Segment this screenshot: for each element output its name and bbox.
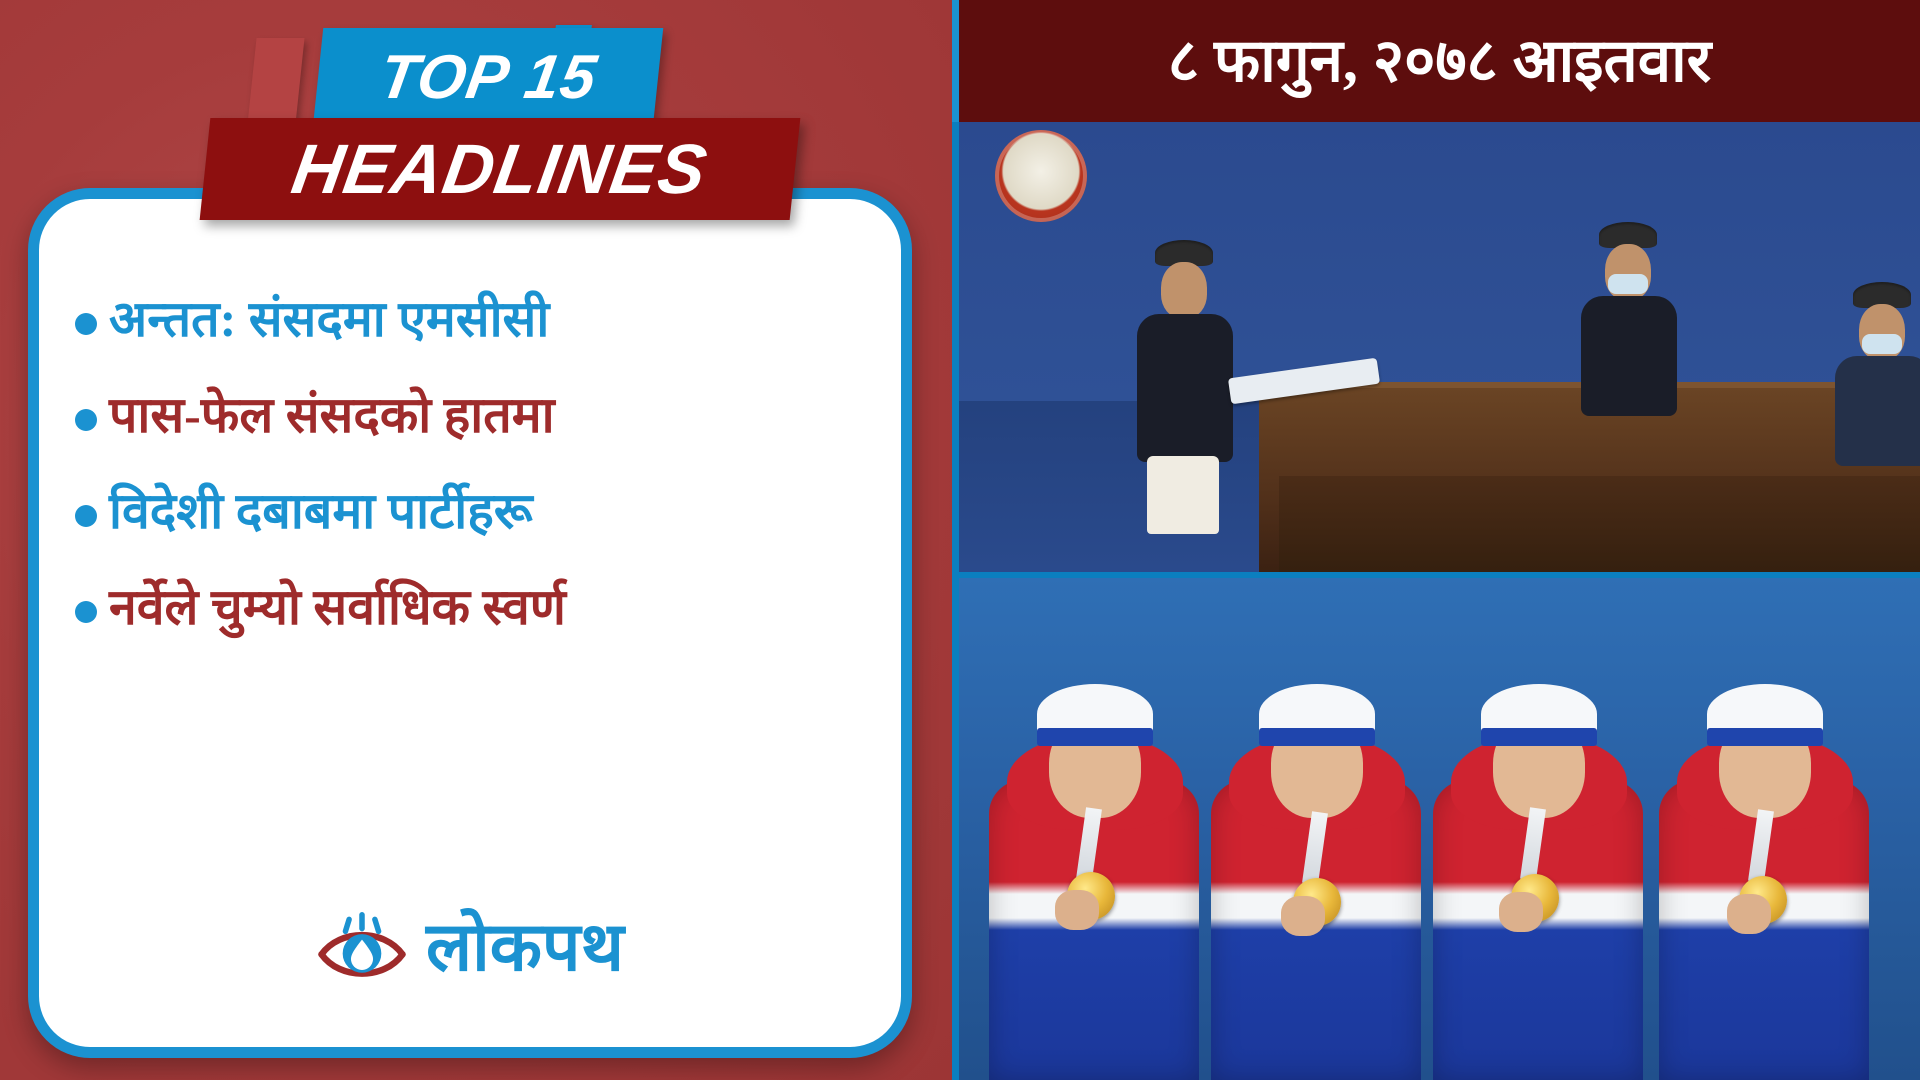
headline-item[interactable]: अन्तत: संसदमा एमसीसी [75, 291, 867, 347]
headline-text: नर्वेले चुम्यो सर्वाधिक स्वर्ण [109, 579, 566, 635]
person-head [1161, 262, 1207, 318]
face-mask-icon [1862, 334, 1902, 354]
person-seated [1829, 282, 1920, 502]
parliament-session-photo [959, 122, 1920, 572]
bullet-icon [75, 601, 97, 623]
brand-logo: लोकपथ [39, 901, 901, 993]
athlete-hand [1281, 896, 1325, 936]
person-standing [1559, 222, 1739, 502]
headlines-banner-label: HEADLINES [288, 134, 713, 204]
bullet-icon [75, 409, 97, 431]
person-body [1835, 356, 1920, 466]
headline-text: अन्तत: संसदमा एमसीसी [109, 291, 549, 347]
headline-item[interactable]: पास-फेल संसदको हातमा [75, 387, 867, 443]
headline-card: अन्तत: संसदमा एमसीसी पास-फेल संसदको हातम… [28, 188, 912, 1058]
athlete-hand [1499, 892, 1543, 932]
decorative-tab-red [247, 38, 304, 124]
headlines-banner: HEADLINES [200, 118, 801, 220]
face-mask-icon [1608, 274, 1648, 294]
national-emblem-icon [995, 130, 1087, 222]
athlete-hand [1727, 894, 1771, 934]
headline-text: पास-फेल संसदको हातमा [109, 387, 555, 443]
top-count-label: TOP 15 [375, 47, 601, 109]
headline-text: विदेशी दबाबमा पार्टीहरू [109, 483, 533, 539]
bullet-icon [75, 313, 97, 335]
hat-band [1707, 728, 1823, 746]
photo-background [959, 122, 1920, 401]
person-body [1137, 314, 1233, 462]
left-panel: TOP 15 HEADLINES अन्तत: संसदमा एमसीसी पा… [0, 0, 952, 1080]
hat-band [1037, 728, 1153, 746]
person-lower-garment [1147, 456, 1219, 534]
bullet-icon [75, 505, 97, 527]
headline-item[interactable]: विदेशी दबाबमा पार्टीहरू [75, 483, 867, 539]
brand-name: लोकपथ [426, 913, 624, 981]
person-body [1581, 296, 1677, 416]
person-walking [1109, 240, 1289, 570]
eye-icon [316, 901, 408, 993]
headline-item[interactable]: नर्वेले चुम्यो सर्वाधिक स्वर्ण [75, 579, 867, 635]
hat-band [1259, 728, 1375, 746]
hat-band [1481, 728, 1597, 746]
top-count-badge: TOP 15 [313, 28, 664, 128]
right-panel: ८ फागुन, २०७८ आइतवार [952, 0, 1920, 1080]
athlete-hand [1055, 890, 1099, 930]
date-bar: ८ फागुन, २०७८ आइतवार [952, 0, 1920, 122]
norway-medalists-photo [959, 578, 1920, 1080]
date-text: ८ फागुन, २०७८ आइतवार [1168, 31, 1711, 91]
